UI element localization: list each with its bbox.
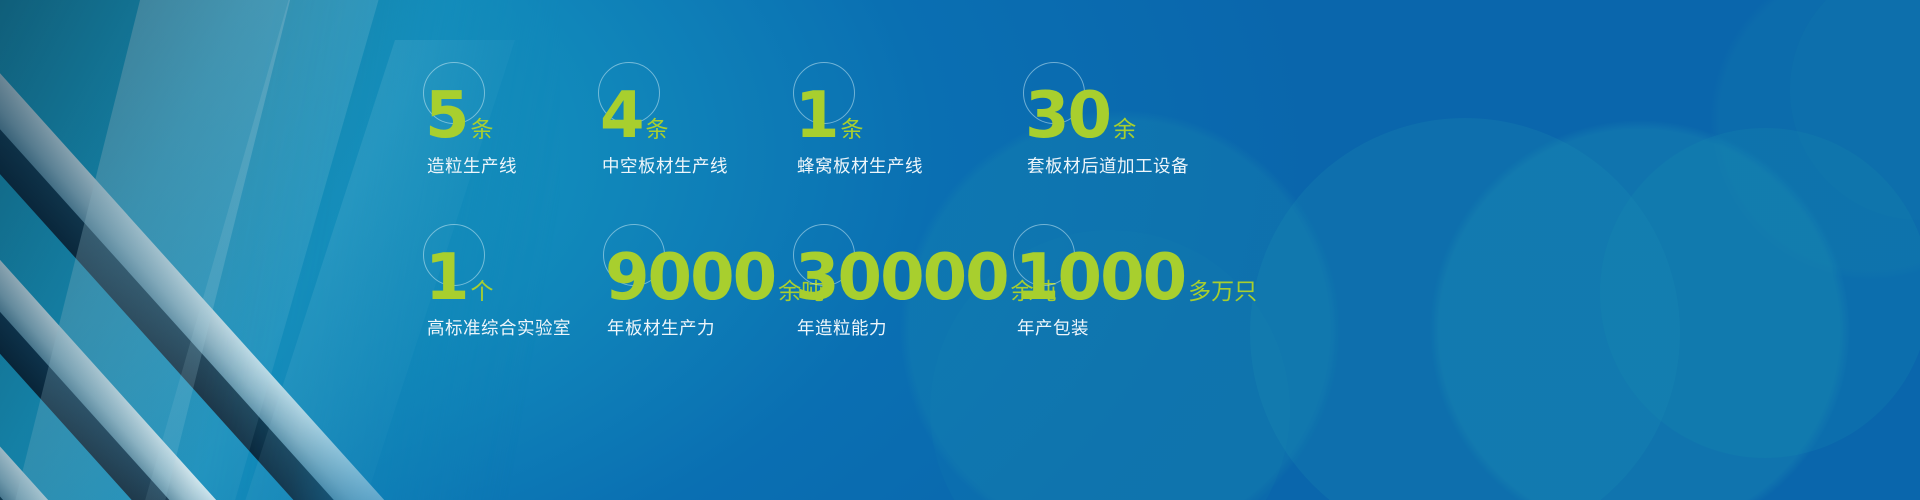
stat-label: 造粒生产线 [427,156,517,176]
stat-label: 高标准综合实验室 [427,318,571,338]
stat-number: 1 [425,246,468,310]
stat-unit: 个 [471,281,494,304]
stat-value: 1 条 [795,84,864,148]
stat-label: 中空板材生产线 [602,156,728,176]
stats-grid: 5 条 造粒生产线 4 条 中空板材生产线 1 条 蜂窝板材生产线 [425,62,1825,354]
stats-banner: 5 条 造粒生产线 4 条 中空板材生产线 1 条 蜂窝板材生产线 [0,0,1920,500]
stat-label: 蜂窝板材生产线 [797,156,923,176]
stat-value: 30 余 [1025,84,1136,148]
stat-value: 1000 多万只 [1015,246,1257,310]
stat-item: 30 余 套板材后道加工设备 [1025,62,1255,192]
stat-number: 4 [600,84,643,148]
stat-label: 套板材后道加工设备 [1027,156,1189,176]
stats-row-1: 5 条 造粒生产线 4 条 中空板材生产线 1 条 蜂窝板材生产线 [425,62,1825,192]
stat-number: 30 [1025,84,1110,148]
stats-row-2: 1 个 高标准综合实验室 9000 余吨 年板材生产力 30000 余吨 [425,224,1825,354]
stat-item: 5 条 造粒生产线 [425,62,600,192]
stat-unit: 条 [646,119,669,142]
stat-item: 9000 余吨 年板材生产力 [605,224,795,354]
stat-label: 年造粒能力 [797,318,887,338]
stat-unit: 条 [841,119,864,142]
stat-value: 4 条 [600,84,669,148]
stat-value: 1 个 [425,246,494,310]
stat-item: 1 条 蜂窝板材生产线 [795,62,1025,192]
stat-label: 年板材生产力 [607,318,715,338]
stat-number: 30000 [795,246,1008,310]
stat-item: 30000 余吨 年造粒能力 [795,224,1015,354]
stat-unit: 条 [471,119,494,142]
stat-unit: 余 [1113,119,1136,142]
stat-number: 1000 [1015,246,1185,310]
stat-item: 1 个 高标准综合实验室 [425,224,605,354]
stat-number: 5 [425,84,468,148]
stat-item: 4 条 中空板材生产线 [600,62,795,192]
stat-label: 年产包装 [1017,318,1089,338]
stat-number: 1 [795,84,838,148]
stat-value: 5 条 [425,84,494,148]
stat-unit: 多万只 [1188,281,1257,304]
stat-value: 9000 余吨 [605,246,824,310]
stat-item: 1000 多万只 年产包装 [1015,224,1245,354]
stat-number: 9000 [605,246,775,310]
